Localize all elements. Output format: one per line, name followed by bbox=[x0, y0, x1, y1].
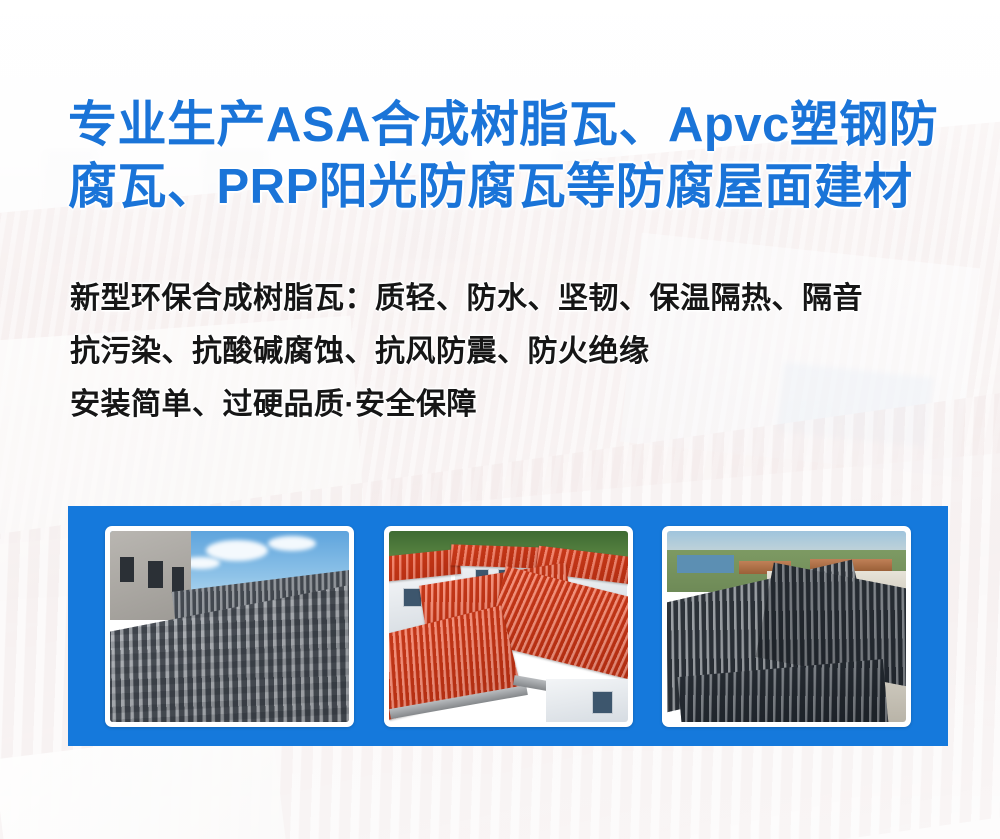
photo3-blue-roof-building bbox=[677, 555, 734, 572]
photo-grey-resin-tile-roof bbox=[110, 531, 349, 722]
photo-black-resin-tile-roof bbox=[667, 531, 906, 722]
photo-frame-1[interactable] bbox=[105, 526, 354, 727]
photo-frame-3[interactable] bbox=[662, 526, 911, 727]
banner-subheadings: 新型环保合成树脂瓦：质轻、防水、坚韧、保温隔热、隔音 抗污染、抗酸碱腐蚀、抗风防… bbox=[70, 272, 960, 431]
photo-frame-2[interactable] bbox=[384, 526, 633, 727]
photo-gallery-panel bbox=[68, 506, 948, 746]
photo2-roof-far-center bbox=[450, 544, 546, 568]
photo1-window bbox=[120, 557, 134, 582]
photo1-window bbox=[172, 567, 184, 592]
subheading-line-3: 安装简单、过硬品质·安全保障 bbox=[70, 378, 960, 431]
subheading-line-1: 新型环保合成树脂瓦：质轻、防水、坚韧、保温隔热、隔音 bbox=[70, 272, 960, 325]
banner-headline: 专业生产ASA合成树脂瓦、Apvc塑钢防 腐瓦、PRP阳光防腐瓦等防腐屋面建材 bbox=[68, 94, 948, 218]
photo-red-resin-tile-roof bbox=[389, 531, 628, 722]
product-promo-banner: 专业生产ASA合成树脂瓦、Apvc塑钢防 腐瓦、PRP阳光防腐瓦等防腐屋面建材 … bbox=[0, 0, 1000, 839]
banner-content: 专业生产ASA合成树脂瓦、Apvc塑钢防 腐瓦、PRP阳光防腐瓦等防腐屋面建材 … bbox=[0, 0, 1000, 839]
subheading-line-2: 抗污染、抗酸碱腐蚀、抗风防震、防火绝缘 bbox=[70, 325, 960, 378]
photo2-building-lower bbox=[546, 679, 627, 721]
photo2-window bbox=[592, 691, 614, 714]
photo1-window bbox=[148, 561, 162, 588]
